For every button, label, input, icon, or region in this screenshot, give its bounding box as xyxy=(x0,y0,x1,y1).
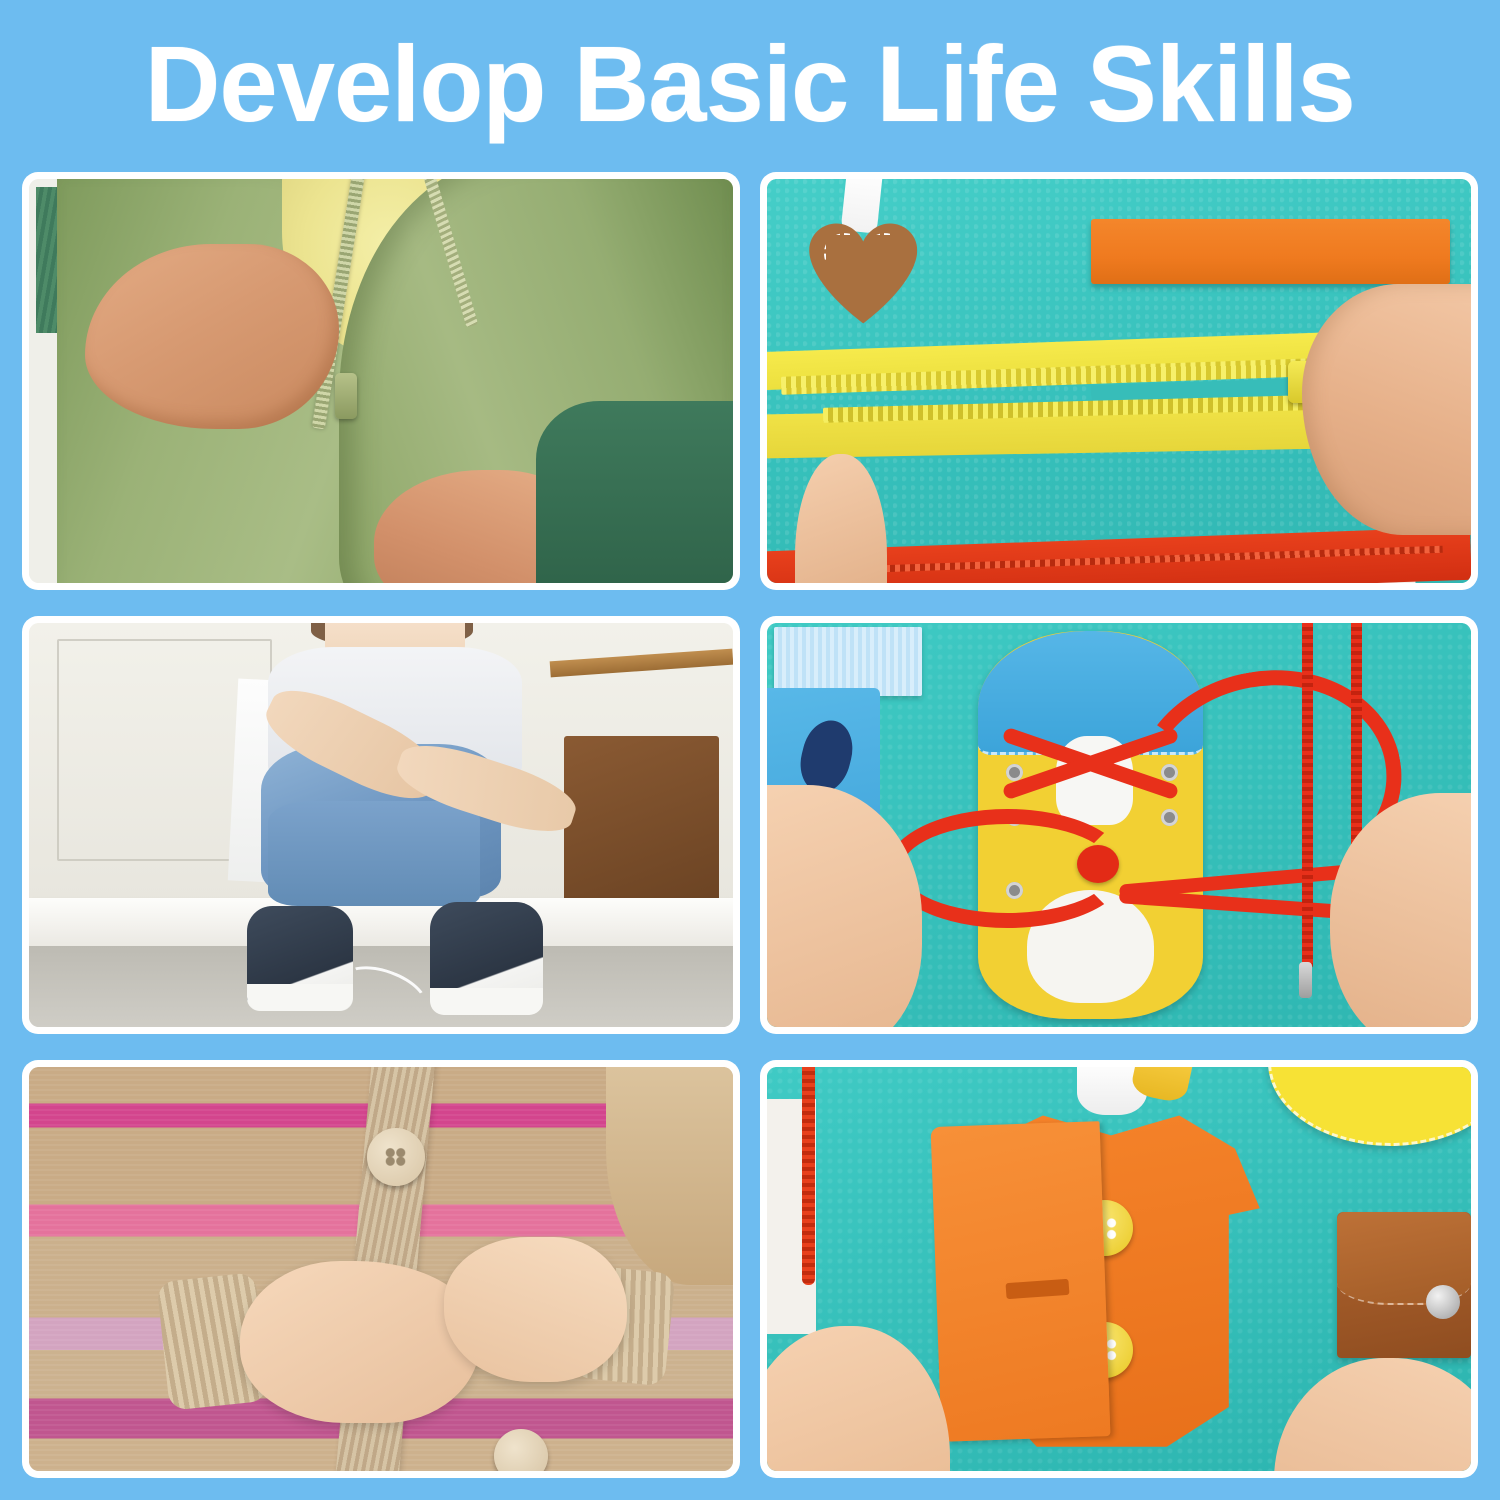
image-toddler-tying-shoes xyxy=(29,623,733,1027)
red-cord-1 xyxy=(1302,623,1313,970)
jacket-button-flap xyxy=(931,1121,1111,1442)
right-sleeve xyxy=(536,401,733,583)
denim-jeans-lower xyxy=(268,801,479,906)
page-title: Develop Basic Life Skills xyxy=(145,30,1355,138)
leather-snap-pouch xyxy=(1337,1212,1471,1357)
image-busy-board-lacing xyxy=(767,623,1471,1027)
cardigan-button-lower xyxy=(494,1429,548,1471)
title-bar: Develop Basic Life Skills xyxy=(0,0,1500,168)
wooden-furniture xyxy=(564,736,719,906)
girl-hand-right xyxy=(444,1237,627,1382)
product-feature-page: Develop Basic Life Skills xyxy=(0,0,1500,1500)
white-ribbon xyxy=(841,179,884,233)
sneaker-left xyxy=(247,906,353,1011)
red-zipper-strip xyxy=(802,1067,815,1285)
zipper-slider xyxy=(335,373,357,419)
photo-card-lace-board xyxy=(760,616,1478,1034)
photo-card-zip-board xyxy=(760,172,1478,590)
photo-card-button-board: 8 7 6 xyxy=(760,1060,1478,1478)
orange-velcro-strap xyxy=(1091,219,1450,284)
cardigan-button-upper xyxy=(367,1128,425,1186)
image-busy-board-buttons: 8 7 6 xyxy=(767,1067,1471,1471)
metal-aglet xyxy=(1299,962,1312,998)
photo-card-zip-jacket xyxy=(22,172,740,590)
image-girl-buttoning-cardigan xyxy=(29,1067,733,1471)
photo-grid: 8 7 6 xyxy=(22,172,1478,1478)
sneaker-right xyxy=(430,902,543,1015)
photo-card-button-cardigan xyxy=(22,1060,740,1478)
lace-knot xyxy=(1077,845,1119,883)
snap-button-icon xyxy=(1426,1285,1460,1319)
image-child-zipping-fleece-jacket xyxy=(29,179,733,583)
image-busy-board-zipper xyxy=(767,179,1471,583)
blue-velcro-strip xyxy=(774,627,922,696)
girl-hand-left xyxy=(240,1261,479,1423)
photo-card-tie-shoes xyxy=(22,616,740,1034)
